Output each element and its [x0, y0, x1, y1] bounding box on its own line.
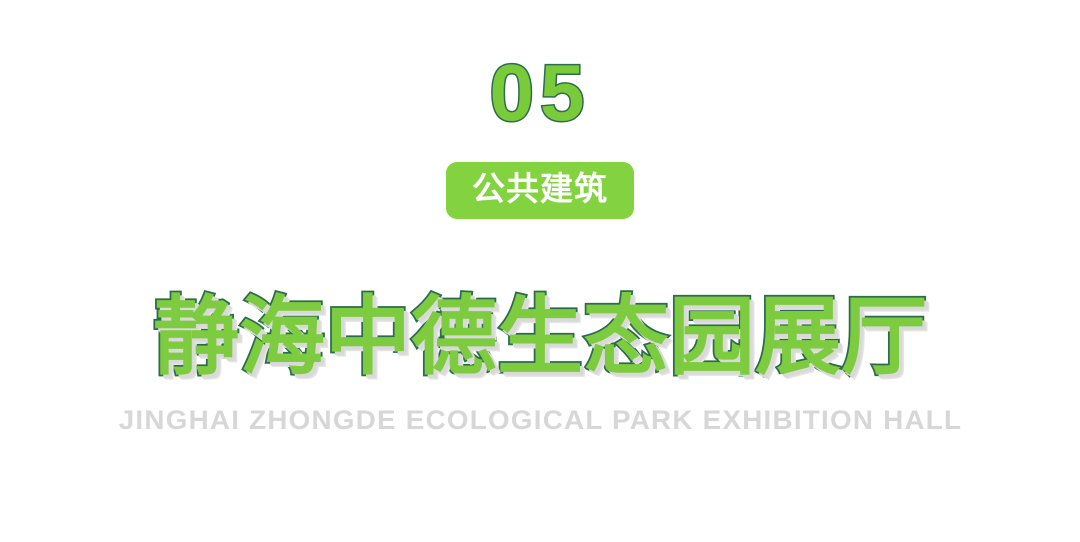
project-title-row: 静海中德生态园展厅 [0, 288, 1080, 386]
project-title-chinese: 静海中德生态园展厅 [153, 288, 927, 386]
section-number: 05 [0, 48, 1080, 138]
category-badge[interactable]: 公共建筑 [446, 162, 634, 219]
slide-root: 05 公共建筑 静海中德生态园展厅 JINGHAI ZHONGDE ECOLOG… [0, 0, 1080, 542]
project-subtitle-row: JINGHAI ZHONGDE ECOLOGICAL PARK EXHIBITI… [0, 404, 1080, 436]
category-badge-row: 公共建筑 [0, 162, 1080, 219]
category-badge-label: 公共建筑 [472, 171, 608, 207]
project-title-english: JINGHAI ZHONGDE ECOLOGICAL PARK EXHIBITI… [118, 404, 962, 436]
